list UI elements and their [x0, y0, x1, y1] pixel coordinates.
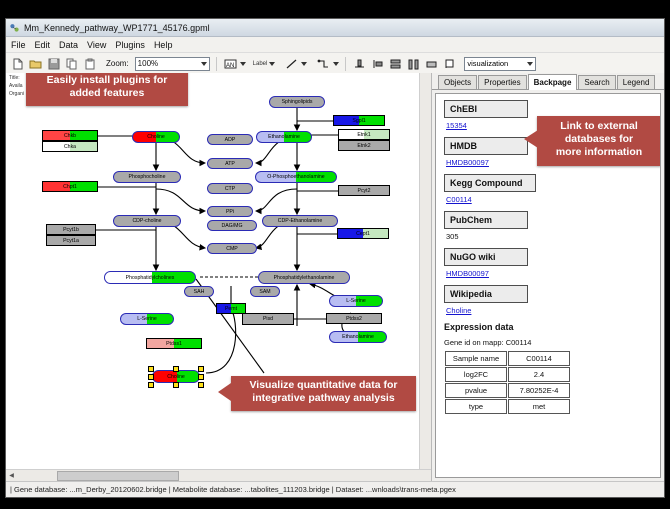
same-width-icon[interactable]: [424, 56, 439, 71]
backpage-content: ChEBI 15354 HMDB HMDB00097 Kegg Compound…: [435, 93, 661, 478]
backpage-link-kegg[interactable]: C00114: [446, 195, 660, 204]
menu-item-plugins[interactable]: Plugins: [115, 40, 145, 50]
pathway-node-chkb[interactable]: Chkb: [42, 130, 98, 141]
pathway-node-pisd[interactable]: Pisd: [242, 313, 294, 325]
node-label: PPi: [226, 209, 234, 215]
label-dropdown-label: Label: [253, 61, 268, 67]
tab-search[interactable]: Search: [578, 75, 615, 89]
pathway-node-pcyt2[interactable]: Pcyt2: [338, 185, 390, 196]
node-label: ADP: [225, 137, 236, 143]
backpage-header-chebi: ChEBI: [444, 100, 528, 118]
tab-legend[interactable]: Legend: [617, 75, 656, 89]
chevron-down-icon: [527, 62, 533, 66]
status-text: | Gene database: ...m_Derby_20120602.bri…: [10, 485, 456, 494]
chevron-down-icon: [201, 62, 207, 66]
chevron-down-icon[interactable]: [269, 62, 275, 66]
node-label: Ptdss1: [166, 341, 182, 347]
pathway-node-l-serine-right[interactable]: L-Serine: [329, 295, 383, 307]
expression-data-title: Expression data: [444, 322, 660, 332]
node-label: Phosphocholine: [129, 174, 166, 180]
pathway-node-cdp-choline[interactable]: CDP-choline: [113, 215, 181, 227]
menu-item-help[interactable]: Help: [154, 40, 173, 50]
zoom-label: Zoom:: [106, 59, 129, 68]
node-label: SAM: [259, 289, 270, 295]
tab-properties[interactable]: Properties: [478, 75, 526, 89]
selection-handle[interactable]: [198, 374, 204, 380]
selection-handle[interactable]: [198, 382, 204, 388]
tool-bar: Zoom: 100% AN Label: [6, 53, 664, 75]
table-row: type met: [445, 399, 570, 414]
scroll-left-arrow[interactable]: ◀: [6, 470, 17, 481]
open-folder-icon[interactable]: [28, 56, 43, 71]
node-label: Sgpl1: [352, 118, 365, 124]
pathway-node-sah[interactable]: SAH: [184, 286, 214, 297]
status-bar: | Gene database: ...m_Derby_20120602.bri…: [6, 481, 664, 497]
backpage-header-kegg: Kegg Compound: [444, 174, 536, 192]
save-icon[interactable]: [46, 56, 61, 71]
backpage-link-wikipedia[interactable]: Choline: [446, 306, 660, 315]
connector-icon[interactable]: [316, 56, 331, 71]
table-row: log2FC 2.4: [445, 367, 570, 382]
table-row: Sample name C00114: [445, 351, 570, 366]
node-label: CDP-Ethanolamine: [278, 218, 322, 224]
pathway-node-cmp[interactable]: CMP: [207, 243, 257, 254]
chevron-down-icon[interactable]: [333, 62, 339, 66]
pathway-node-ethanolamine[interactable]: Ethanolamine: [256, 131, 312, 143]
callout-links: Link to externaldatabases formore inform…: [537, 116, 661, 166]
node-label: Pisd: [263, 316, 273, 322]
callout-links-arrow: [524, 130, 538, 148]
toolbar-separator: [345, 57, 346, 71]
backpage-link-nugo[interactable]: HMDB00097: [446, 269, 660, 278]
menu-bar: File Edit Data View Plugins Help: [6, 37, 664, 53]
pathway-node-dag-mg[interactable]: DAG/MG: [207, 220, 257, 231]
same-height-icon[interactable]: [442, 56, 457, 71]
node-label: Chpt1: [63, 184, 77, 190]
zoom-value: 100%: [138, 59, 158, 68]
scroll-thumb[interactable]: [57, 471, 179, 481]
pathway-node-phosphatidylethanolamine[interactable]: Phosphatidylethanolamine: [258, 271, 350, 284]
node-label: Pcyt2: [358, 188, 371, 194]
node-label: Ptdss2: [346, 316, 362, 322]
distribute-horizontal-icon[interactable]: [388, 56, 403, 71]
pathway-node-cept1[interactable]: Cept1: [337, 228, 389, 239]
canvas-vertical-scrollbar[interactable]: [419, 73, 431, 470]
callout-plugins: Easily install plugins foradded features: [26, 73, 188, 106]
backpage-header-nugo: NuGO wiki: [444, 248, 528, 266]
tab-objects[interactable]: Objects: [438, 75, 477, 89]
node-label: Cept1: [356, 231, 370, 237]
pathway-node-phosphocholine[interactable]: Phosphocholine: [113, 171, 181, 183]
side-panel-tabs: Objects Properties Backpage Search Legen…: [432, 73, 664, 90]
pathway-node-choline[interactable]: Choline: [132, 131, 180, 143]
selection-handle[interactable]: [173, 366, 179, 372]
selection-handle[interactable]: [148, 366, 154, 372]
menu-item-edit[interactable]: Edit: [35, 40, 51, 50]
pathway-node-etnk2[interactable]: Etnk2: [338, 140, 390, 151]
copy-icon[interactable]: [64, 56, 79, 71]
node-label: Ethanolamine: [342, 334, 374, 340]
pathway-node-cdp-ethanolamine[interactable]: CDP-Ethanolamine: [262, 215, 338, 227]
node-label: Phosphatidylethanolamine: [274, 275, 335, 281]
pathvisio-icon: [9, 22, 20, 33]
zoom-select[interactable]: 100%: [135, 57, 210, 71]
text-label-icon[interactable]: AN: [223, 56, 238, 71]
table-cell: pvalue: [445, 383, 507, 398]
pathway-node-chpt1[interactable]: Chpt1: [42, 181, 98, 192]
pathway-node-sam[interactable]: SAM: [250, 286, 280, 297]
node-label: DAG/MG: [221, 223, 242, 229]
table-cell: C00114: [508, 351, 570, 366]
pathway-node-pcyt1a[interactable]: Pcyt1a: [46, 235, 96, 246]
node-label: Chkb: [64, 133, 76, 139]
chevron-down-icon[interactable]: [301, 62, 307, 66]
node-label: Choline: [167, 374, 185, 380]
menu-item-data[interactable]: Data: [59, 40, 78, 50]
align-top-icon[interactable]: [352, 56, 367, 71]
pathway-node-ctp[interactable]: CTP: [207, 183, 253, 194]
node-label: Sphingolipids: [282, 99, 313, 105]
table-cell: met: [508, 399, 570, 414]
application-window: Mm_Kennedy_pathway_WP1771_45176.gpml Fil…: [5, 18, 665, 498]
table-cell: log2FC: [445, 367, 507, 382]
pathway-node-atp[interactable]: ATP: [207, 158, 253, 169]
menu-item-file[interactable]: File: [11, 40, 26, 50]
pathway-canvas[interactable]: Title: Availa Organi: [6, 73, 432, 481]
node-label: Choline: [147, 134, 165, 140]
table-cell: 2.4: [508, 367, 570, 382]
selection-handle[interactable]: [148, 382, 154, 388]
pathway-node-l-serine-left[interactable]: L-Serine: [120, 313, 174, 325]
callout-visualize: Visualize quantitative data forintegrati…: [231, 376, 416, 411]
backpage-header-wikipedia: Wikipedia: [444, 285, 528, 303]
window-title: Mm_Kennedy_pathway_WP1771_45176.gpml: [24, 23, 210, 33]
node-label: Pemt: [225, 306, 237, 312]
menu-item-view[interactable]: View: [87, 40, 106, 50]
visualization-select[interactable]: visualization: [464, 57, 536, 71]
table-cell: 7.80252E-4: [508, 383, 570, 398]
backpage-header-pubchem: PubChem: [444, 211, 528, 229]
align-left-icon[interactable]: [370, 56, 385, 71]
side-panel: Objects Properties Backpage Search Legen…: [432, 73, 664, 481]
node-label: L-Serine: [137, 316, 157, 322]
pathway-node-chka[interactable]: Chka: [42, 141, 98, 152]
pathway-node-sphingolipids[interactable]: Sphingolipids: [269, 96, 325, 108]
table-cell: Sample name: [445, 351, 507, 366]
pathway-node-ptdss2[interactable]: Ptdss2: [326, 313, 382, 324]
main-body: Title: Availa Organi: [6, 73, 664, 481]
backpage-value-pubchem: 305: [446, 232, 660, 241]
node-label: Pcyt1a: [63, 238, 79, 244]
backpage-header-hmdb: HMDB: [444, 137, 528, 155]
visualization-value: visualization: [467, 59, 508, 68]
node-label: Phosphatidylcholines: [126, 275, 175, 281]
paste-icon[interactable]: [82, 56, 97, 71]
selection-handle[interactable]: [198, 366, 204, 372]
line-icon[interactable]: [284, 56, 299, 71]
node-label: CDP-choline: [132, 218, 161, 224]
svg-text:AN: AN: [226, 63, 234, 69]
pathway-node-ptdss1[interactable]: Ptdss1: [146, 338, 202, 349]
node-label: O-Phosphoethanolamine: [267, 174, 324, 180]
node-label: L-Serine: [346, 298, 366, 304]
title-bar: Mm_Kennedy_pathway_WP1771_45176.gpml: [6, 19, 664, 37]
selection-handle[interactable]: [148, 374, 154, 380]
tab-backpage[interactable]: Backpage: [528, 74, 578, 90]
node-label: CMP: [226, 246, 238, 252]
expression-table: Sample name C00114 log2FC 2.4 pvalue 7.8…: [444, 350, 571, 415]
pathway-node-etnk1[interactable]: Etnk1: [338, 129, 390, 140]
table-row: pvalue 7.80252E-4: [445, 383, 570, 398]
selection-handle[interactable]: [173, 382, 179, 388]
pathway-node-phosphatidylcholines[interactable]: Phosphatidylcholines: [104, 271, 196, 284]
node-label: ATP: [225, 161, 235, 167]
node-label: Etnk1: [357, 132, 370, 138]
node-label: Ethanolamine: [268, 134, 300, 140]
table-cell: type: [445, 399, 507, 414]
pathway-node-pcyt1b[interactable]: Pcyt1b: [46, 224, 96, 235]
node-label: SAH: [194, 289, 205, 295]
pathway-node-ppi[interactable]: PPi: [207, 206, 253, 217]
pathway-node-sgpl1[interactable]: Sgpl1: [333, 115, 385, 126]
node-label: Pcyt1b: [63, 227, 79, 233]
expression-gene-id: Gene id on mapp: C00114: [444, 338, 660, 347]
chevron-down-icon[interactable]: [240, 62, 246, 66]
pathway-node-ethanolamine-right[interactable]: Ethanolamine: [329, 331, 387, 343]
node-label: Chka: [64, 144, 76, 150]
canvas-horizontal-scrollbar[interactable]: ◀: [6, 469, 431, 481]
callout-visualize-arrow: [218, 383, 231, 401]
new-file-icon[interactable]: [10, 56, 25, 71]
toolbar-separator: [216, 57, 217, 71]
pathway-node-o-phosphoethanolamine[interactable]: O-Phosphoethanolamine: [255, 171, 337, 183]
pathway-node-adp[interactable]: ADP: [207, 134, 253, 145]
node-label: CTP: [225, 186, 235, 192]
distribute-vertical-icon[interactable]: [406, 56, 421, 71]
node-label: Etnk2: [357, 143, 370, 149]
